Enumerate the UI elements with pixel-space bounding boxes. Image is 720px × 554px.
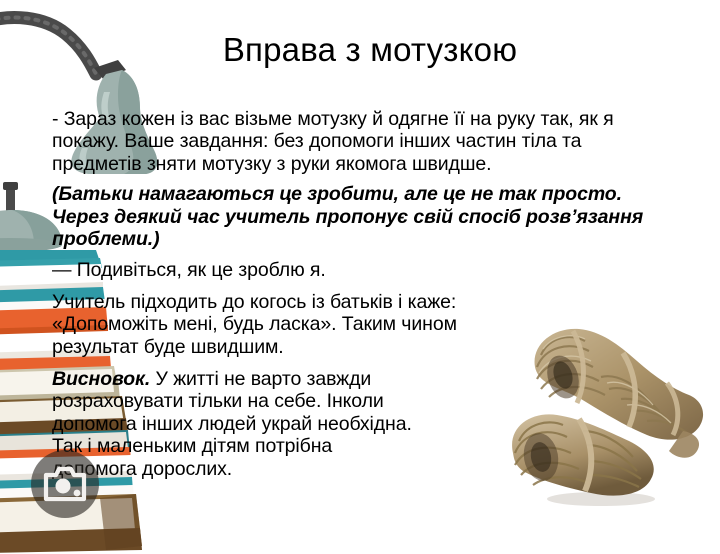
paragraph-teacher-action: Учитель підходить до когось із батьків і… [52, 291, 482, 358]
paragraph-teacher-line: — Подивіться, як це зроблю я. [52, 259, 612, 281]
slide-canvas: Вправа з мотузкою - Зараз кожен із вас в… [0, 0, 720, 554]
rope-coils-image [497, 315, 713, 515]
paragraph-parenthetical-note: (Батьки намагаються це зробити, але це н… [52, 183, 652, 250]
paragraph-conclusion: Висновок. У житті не варто завжди розрах… [52, 368, 412, 480]
lamp-pole-icon [3, 182, 18, 240]
paragraph-instruction: - Зараз кожен із вас візьме мотузку й од… [52, 108, 670, 175]
camera-watermark [28, 447, 102, 521]
conclusion-lead-label: Висновок. [52, 368, 150, 390]
slide-title: Вправа з мотузкою [60, 31, 680, 69]
